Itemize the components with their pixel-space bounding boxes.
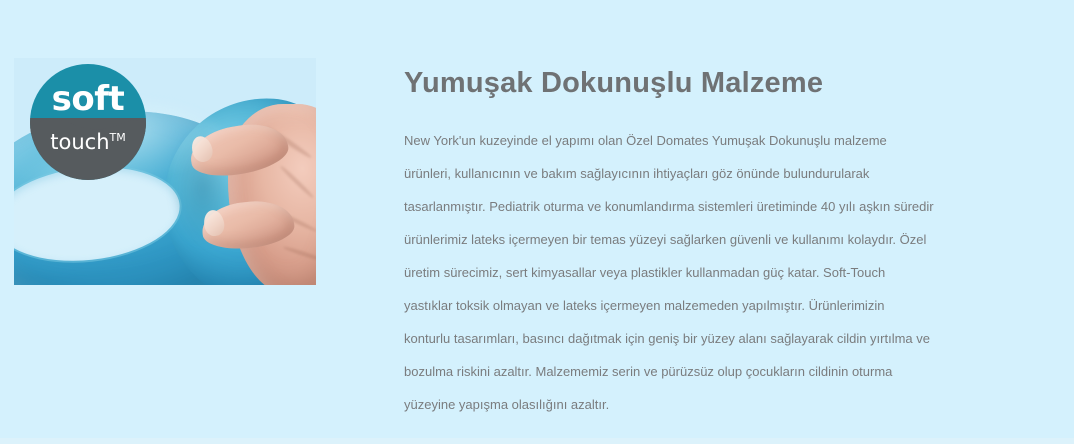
page-title: Yumuşak Dokunuşlu Malzeme [404, 66, 944, 100]
badge-trademark-symbol: TM [110, 131, 126, 144]
bottom-strip [0, 438, 1074, 444]
badge-touch-text: touchTM [30, 132, 146, 153]
body-paragraph: New York'un kuzeyinde el yapımı olan Öze… [404, 124, 934, 421]
page-root: soft touchTM Yumuşak Dokunuşlu Malzeme N… [0, 0, 1074, 444]
hand-illustration [190, 96, 316, 285]
product-image: soft touchTM [14, 58, 316, 285]
badge-soft-text: soft [30, 82, 146, 116]
soft-touch-badge: soft touchTM [30, 64, 146, 180]
text-column: Yumuşak Dokunuşlu Malzeme New York'un ku… [404, 66, 944, 421]
badge-touch-word: touch [50, 130, 109, 154]
